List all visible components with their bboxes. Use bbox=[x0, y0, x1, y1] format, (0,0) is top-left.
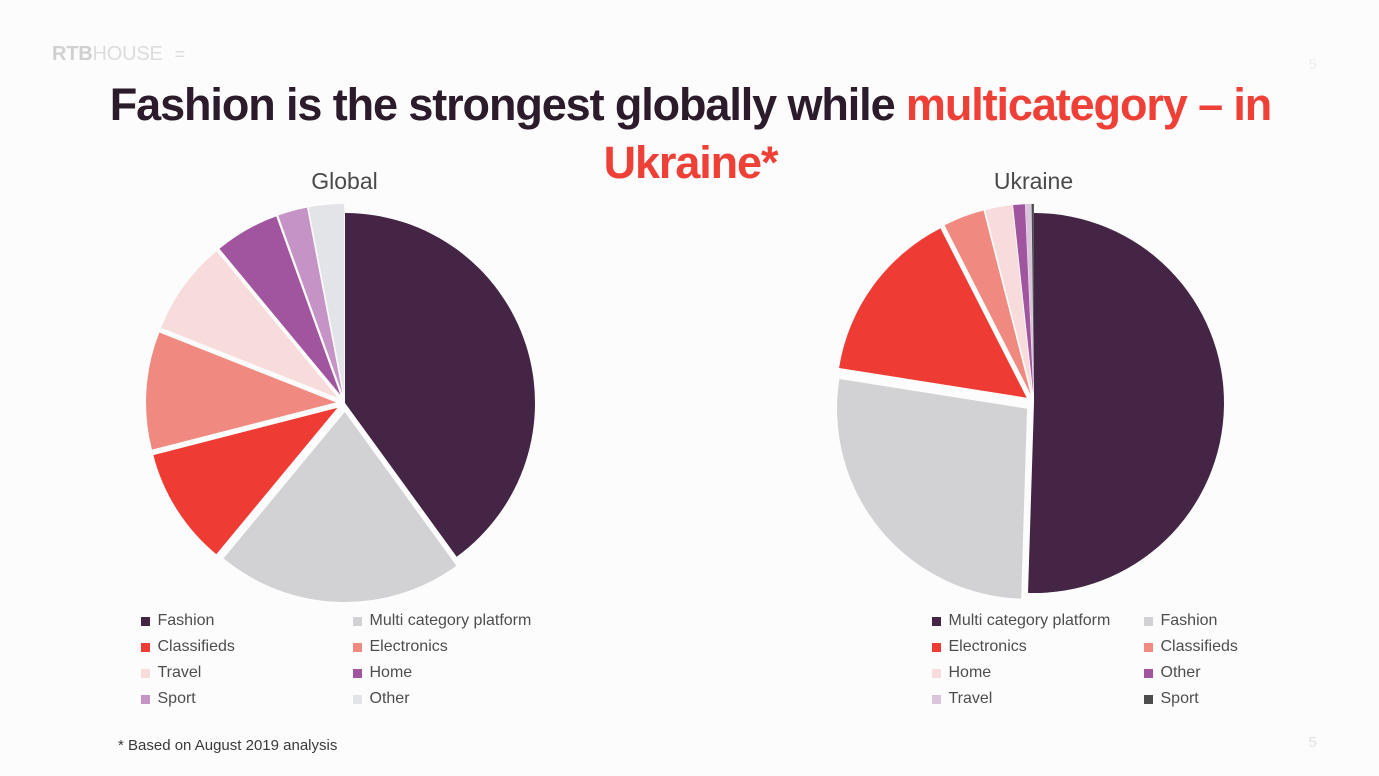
legend-item[interactable]: Sport bbox=[1144, 691, 1324, 707]
legend-item[interactable]: Classifieds bbox=[141, 639, 341, 655]
logo-house-text: HOUSE bbox=[93, 43, 163, 66]
legend-item[interactable]: Electronics bbox=[932, 639, 1132, 655]
footnote: * Based on August 2019 analysis bbox=[118, 737, 337, 754]
legend-swatch-icon bbox=[1144, 669, 1153, 678]
pie-global bbox=[145, 203, 545, 603]
legend-ukraine: Multi category platformFashionElectronic… bbox=[932, 613, 1222, 707]
legend-item-label: Fashion bbox=[158, 613, 215, 629]
legend-swatch-icon bbox=[932, 643, 941, 652]
chart-global-title: Global bbox=[311, 168, 377, 195]
legend-swatch-icon bbox=[932, 617, 941, 626]
legend-item[interactable]: Electronics bbox=[353, 639, 553, 655]
chart-global: Global FashionMulti category platformCla… bbox=[0, 168, 689, 707]
page-number-top: 5 bbox=[1309, 56, 1317, 73]
legend-item-label: Home bbox=[949, 665, 992, 681]
pie-ukraine-svg bbox=[834, 203, 1234, 603]
legend-swatch-icon bbox=[353, 695, 362, 704]
legend-item-label: Home bbox=[370, 665, 413, 681]
legend-item[interactable]: Sport bbox=[141, 691, 341, 707]
pie-ukraine bbox=[834, 203, 1234, 603]
legend-item-label: Travel bbox=[158, 665, 202, 681]
legend-item[interactable]: Multi category platform bbox=[932, 613, 1132, 629]
legend-item-label: Electronics bbox=[949, 639, 1027, 655]
legend-item[interactable]: Travel bbox=[932, 691, 1132, 707]
logo-rtb-text: RTB bbox=[52, 43, 93, 66]
legend-swatch-icon bbox=[353, 643, 362, 652]
legend-swatch-icon bbox=[141, 695, 150, 704]
legend-item-label: Sport bbox=[158, 691, 196, 707]
legend-item-label: Classifieds bbox=[158, 639, 235, 655]
logo-equals-icon: = bbox=[175, 44, 185, 65]
legend-item[interactable]: Home bbox=[353, 665, 553, 681]
charts-row: Global FashionMulti category platformCla… bbox=[0, 168, 1379, 707]
legend-item-label: Sport bbox=[1161, 691, 1199, 707]
legend-item-label: Electronics bbox=[370, 639, 448, 655]
legend-item-label: Fashion bbox=[1161, 613, 1218, 629]
legend-swatch-icon bbox=[141, 617, 150, 626]
rtb-house-logo: RTB HOUSE = bbox=[52, 43, 185, 66]
legend-item[interactable]: Fashion bbox=[141, 613, 341, 629]
legend-item-label: Other bbox=[370, 691, 410, 707]
legend-item-label: Multi category platform bbox=[370, 613, 532, 629]
chart-ukraine-title: Ukraine bbox=[994, 168, 1073, 195]
legend-swatch-icon bbox=[141, 669, 150, 678]
legend-swatch-icon bbox=[1144, 643, 1153, 652]
legend-item-label: Other bbox=[1161, 665, 1201, 681]
legend-item[interactable]: Travel bbox=[141, 665, 341, 681]
legend-swatch-icon bbox=[1144, 695, 1153, 704]
legend-item[interactable]: Multi category platform bbox=[353, 613, 553, 629]
legend-swatch-icon bbox=[353, 617, 362, 626]
legend-item[interactable]: Classifieds bbox=[1144, 639, 1324, 655]
legend-item[interactable]: Other bbox=[353, 691, 553, 707]
legend-swatch-icon bbox=[141, 643, 150, 652]
pie-slice bbox=[837, 379, 1027, 599]
legend-global: FashionMulti category platformClassified… bbox=[141, 613, 541, 707]
legend-swatch-icon bbox=[932, 669, 941, 678]
legend-item[interactable]: Fashion bbox=[1144, 613, 1324, 629]
title-lead-text: Fashion is the strongest globally while bbox=[110, 79, 906, 130]
page-number-bottom: 5 bbox=[1309, 734, 1317, 751]
legend-item[interactable]: Home bbox=[932, 665, 1132, 681]
pie-slice bbox=[1028, 213, 1224, 593]
pie-global-svg bbox=[145, 203, 545, 603]
legend-swatch-icon bbox=[353, 669, 362, 678]
legend-item[interactable]: Other bbox=[1144, 665, 1324, 681]
legend-item-label: Multi category platform bbox=[949, 613, 1111, 629]
legend-swatch-icon bbox=[932, 695, 941, 704]
legend-item-label: Classifieds bbox=[1161, 639, 1238, 655]
slide: RTB HOUSE = 5 5 Fashion is the strongest… bbox=[0, 0, 1379, 776]
chart-ukraine: Ukraine Multi category platformFashionEl… bbox=[689, 168, 1378, 707]
legend-swatch-icon bbox=[1144, 617, 1153, 626]
legend-item-label: Travel bbox=[949, 691, 993, 707]
